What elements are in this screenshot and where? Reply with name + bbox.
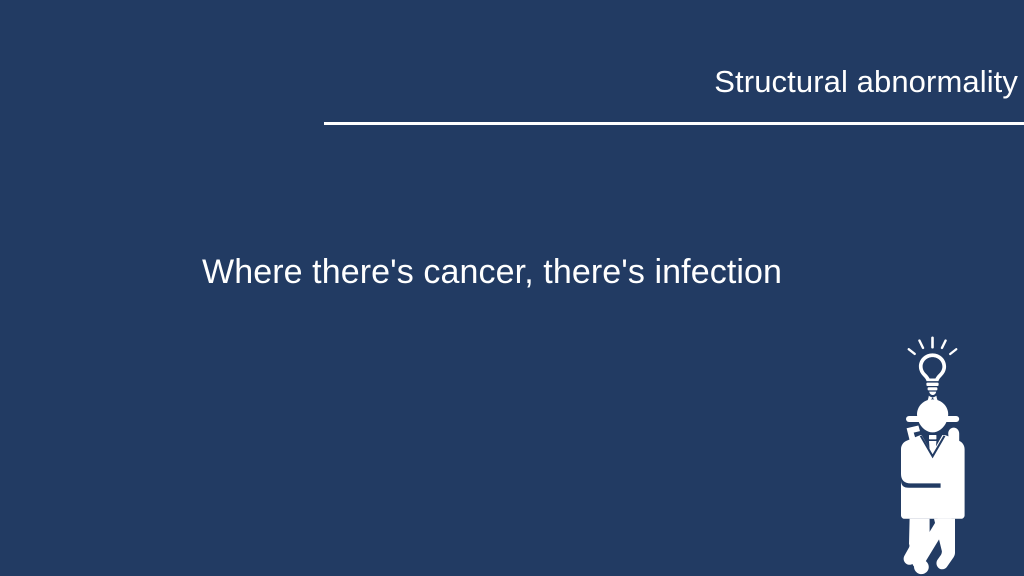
shoe-icon <box>914 560 929 574</box>
crossed-legs-icon <box>904 519 955 570</box>
idea-rays-icon <box>907 337 958 356</box>
title-underline-divider <box>324 122 1024 125</box>
coat-button-icon <box>930 494 935 499</box>
head-icon <box>917 399 948 432</box>
thinking-scientist-illustration <box>885 315 985 576</box>
folded-arm-icon <box>901 471 945 488</box>
title-block: Structural abnormality <box>0 0 1024 130</box>
hard-hat-brim-icon <box>906 416 959 422</box>
page-title: Structural abnormality <box>714 66 1018 99</box>
body-text: Where there's cancer, there's infection <box>202 252 782 293</box>
slide-canvas: Structural abnormality Where there's can… <box>0 0 1024 576</box>
lightbulb-icon <box>919 353 946 395</box>
